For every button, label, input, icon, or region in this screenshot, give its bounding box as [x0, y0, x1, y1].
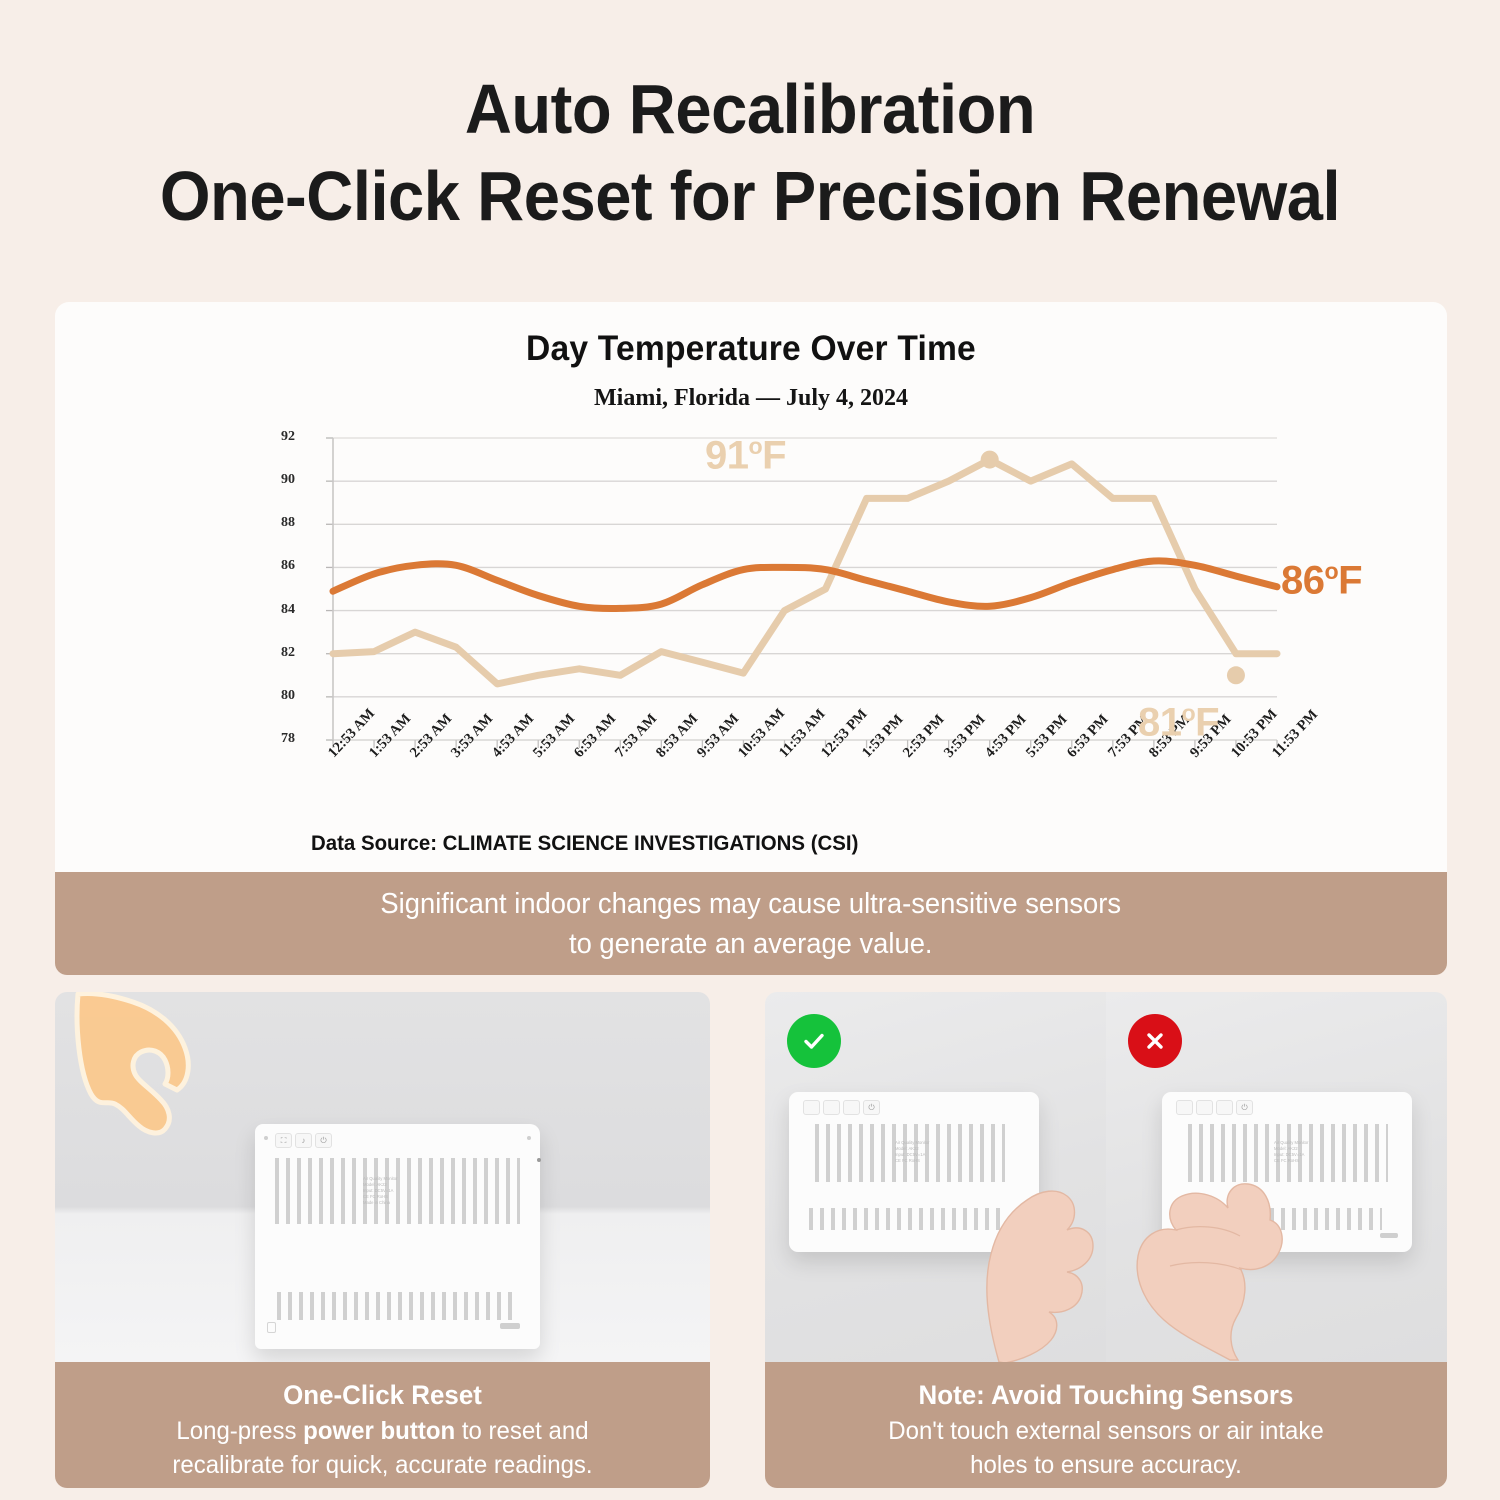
device-screw-left [264, 1136, 268, 1140]
page-title: Auto Recalibration One-Click Reset for P… [0, 66, 1500, 240]
caption-body: Don't touch external sensors or air inta… [779, 1414, 1434, 1482]
y-axis-tick-label: 86 [255, 558, 295, 574]
y-axis-tick-label: 80 [255, 688, 295, 704]
chart-subtitle: Miami, Florida — July 4, 2024 [55, 385, 1447, 412]
photo-one-click-reset: ⛶ ♪ ⏻ Air Quality Monitor Model: AK22 In… [55, 992, 710, 1362]
banner-line-2: to generate an average value. [569, 928, 933, 960]
light-button [843, 1100, 860, 1115]
caption-avoid-touching-sensors: Note: Avoid Touching Sensors Don't touch… [765, 1362, 1447, 1488]
device-button-row: ⛶ ♪ ⏻ [275, 1133, 332, 1148]
device-usb-port [1380, 1233, 1398, 1238]
mode-button [803, 1100, 820, 1115]
caption-body: Long-press power button to reset and rec… [68, 1414, 697, 1482]
power-button: ⏻ [863, 1100, 880, 1115]
y-axis-tick-label: 84 [255, 602, 295, 618]
alarm-button: ♪ [295, 1133, 312, 1148]
y-axis-tick-label: 90 [255, 472, 295, 488]
label-line-5: Made in China [363, 1200, 397, 1206]
device-vent-upper [275, 1158, 520, 1224]
device-rating-label: Air Quality Monitor Model: AK22 Input: D… [895, 1140, 929, 1164]
device-button-row-correct: ⏻ [803, 1100, 880, 1115]
headline-line-2: One-Click Reset for Precision Renewal [53, 152, 1448, 240]
chart-plot-area: 7880828486889092 12:53 AM1:53 AM2:53 AM3… [55, 430, 1447, 870]
data-point-marker [981, 451, 999, 469]
chart-data-source: Data Source: CLIMATE SCIENCE INVESTIGATI… [311, 831, 858, 856]
power-button: ⏻ [315, 1133, 332, 1148]
chart-title: Day Temperature Over Time [83, 329, 1419, 369]
caption-body-pre: Long-press [176, 1417, 303, 1445]
device-rating-label: Air Quality Monitor Model: AK22 Input: D… [363, 1176, 397, 1206]
caption-title: One-Click Reset [68, 1376, 697, 1414]
photo-pair-sensors: ⏻ Air Quality Monitor Model: AK22 Input:… [765, 992, 1447, 1362]
panel-avoid-touching-sensors: ⏻ Air Quality Monitor Model: AK22 Input:… [765, 992, 1447, 1488]
alarm-button [823, 1100, 840, 1115]
data-point-marker [1227, 666, 1245, 684]
caption-body-line2: recalibrate for quick, accurate readings… [172, 1451, 592, 1479]
photo-incorrect-grip: ⏻ Air Quality Monitor Model: AK22 Input:… [1106, 992, 1447, 1362]
mode-button: ⛶ [275, 1133, 292, 1148]
infographic-page: Auto Recalibration One-Click Reset for P… [0, 0, 1500, 1500]
hand-correct-grip [947, 1104, 1106, 1362]
annotation-low-temp: 81oF [1138, 700, 1219, 745]
y-axis-tick-label: 92 [255, 429, 295, 445]
caption-body-line2: holes to ensure accuracy. [970, 1451, 1242, 1479]
chart-card: Day Temperature Over Time Miami, Florida… [55, 302, 1447, 872]
device-vent-lower [277, 1292, 512, 1320]
device-usb-port [500, 1323, 520, 1329]
y-axis-tick-label: 88 [255, 515, 295, 531]
device-screw-right [527, 1136, 531, 1140]
check-badge [787, 1014, 841, 1068]
device-battery-icon [267, 1322, 276, 1333]
label-line-4: CE FC RoHS [895, 1158, 929, 1164]
headline-line-1: Auto Recalibration [53, 66, 1448, 152]
panel-one-click-reset: ⛶ ♪ ⏻ Air Quality Monitor Model: AK22 In… [55, 992, 710, 1488]
y-axis-tick-label: 78 [255, 731, 295, 747]
annotation-high-temp: 91oF [705, 433, 786, 478]
pointing-finger-icon [73, 992, 263, 1166]
cross-badge [1128, 1014, 1182, 1068]
caption-body-post: to reset and [455, 1417, 588, 1445]
caption-body-line1: Don't touch external sensors or air inta… [888, 1417, 1323, 1445]
hand-incorrect-grip [1112, 1098, 1292, 1362]
caption-body-bold: power button [303, 1417, 455, 1445]
device-side-sensor [537, 1158, 541, 1162]
device-air-quality-monitor: ⛶ ♪ ⏻ Air Quality Monitor Model: AK22 In… [255, 1124, 540, 1349]
photo-correct-grip: ⏻ Air Quality Monitor Model: AK22 Input:… [765, 992, 1106, 1362]
y-axis-tick-label: 82 [255, 645, 295, 661]
annotation-average-temp: 86oF [1281, 558, 1362, 603]
banner-line-1: Significant indoor changes may cause ult… [381, 888, 1122, 920]
info-banner: Significant indoor changes may cause ult… [55, 872, 1447, 975]
chart-gridlines [326, 438, 1277, 740]
caption-title: Note: Avoid Touching Sensors [779, 1376, 1434, 1414]
caption-one-click-reset: One-Click Reset Long-press power button … [55, 1362, 710, 1488]
